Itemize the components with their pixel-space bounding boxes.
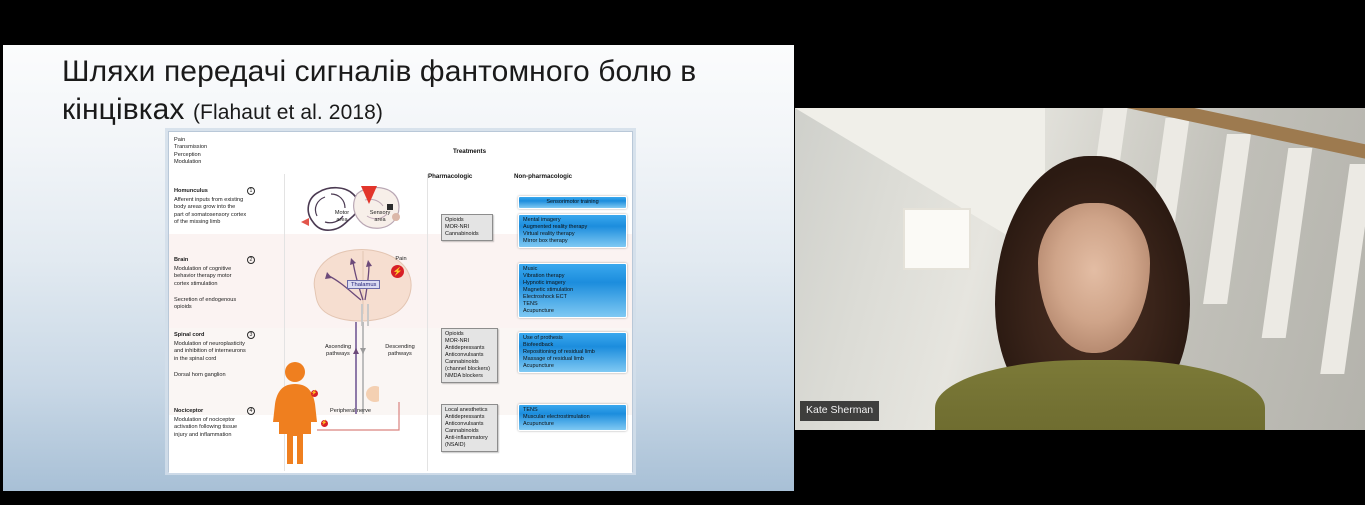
row-heading-brain: Brain	[174, 257, 188, 264]
pharmacologic-box-spinal-cord: Opioids MOR-NRI Antidepressants Anticonv…	[441, 328, 498, 383]
marker-3: 3	[247, 331, 255, 339]
row-body-nociceptor: Modulation of nociceptor activation foll…	[174, 417, 237, 439]
presentation-slide: Шляхи передачі сигналів фантомного болю …	[3, 45, 794, 491]
pain-modulation-header: Pain Transmission Perception Modulation	[174, 137, 207, 167]
row-heading-spinal-cord: Spinal cord	[174, 332, 204, 339]
participant-torso	[935, 360, 1265, 430]
nonpharmacologic-column-header: Non-pharmacologic	[514, 173, 572, 180]
nonpharmacologic-box-sensorimotor: Sensorimotor training	[518, 196, 627, 209]
row-body-homunculus: Afferent inputs from existing body areas…	[174, 197, 246, 227]
participant-name-label: Kate Sherman	[800, 401, 879, 421]
row-body-brain-extra: Secretion of endogenous opioids	[174, 297, 236, 312]
nonpharmacologic-box-nociceptor: TENS Muscular electrostimulation Acupunc…	[518, 404, 627, 431]
stair-baluster-4	[1262, 148, 1313, 338]
label-pain: Pain	[391, 256, 411, 263]
pharmacologic-box-homunculus: Opioids MOR-NRI Cannabinoids	[441, 214, 493, 241]
peripheral-nerve-path	[315, 400, 425, 438]
marker-1: 1	[247, 187, 255, 195]
label-sensory-area: Sensory area	[365, 210, 395, 224]
label-thalamus: Thalamus	[347, 280, 380, 289]
pain-pathway-diagram: Pain Transmission Perception Modulation …	[168, 131, 633, 472]
video-participant-tile[interactable]: Kate Sherman	[795, 108, 1365, 430]
pharmacologic-box-nociceptor: Local anesthetics Antidepressants Antico…	[441, 404, 498, 452]
label-motor-area: Motor area	[329, 210, 355, 224]
nociceptor-bolt-icon: ⚡	[311, 390, 318, 397]
page-title: Шляхи передачі сигналів фантомного болю …	[62, 53, 762, 132]
row-body-spinal-cord: Modulation of neuroplasticity and inhibi…	[174, 341, 246, 363]
nonpharmacologic-box-brain: Music Vibration therapy Hypnotic imagery…	[518, 263, 627, 318]
row-heading-homunculus: Homunculus	[174, 188, 208, 195]
pain-bolt-icon: ⚡	[391, 265, 404, 278]
stair-baluster-3	[1203, 134, 1251, 304]
marker-4: 4	[247, 407, 255, 415]
row-heading-nociceptor: Nociceptor	[174, 408, 203, 415]
screen-root: Шляхи передачі сигналів фантомного болю …	[0, 0, 1365, 505]
slide-title-citation: (Flahaut et al. 2018)	[193, 101, 383, 124]
marker-2: 2	[247, 256, 255, 264]
peripheral-bolt-icon: ⚡	[321, 420, 328, 427]
wall-picture-frame	[903, 208, 971, 270]
nonpharmacologic-box-spinal-cord: Use of prothesis Biofeedback Repositioni…	[518, 332, 627, 373]
label-peripheral-nerve: Peripheral nerve	[330, 408, 392, 415]
pharmacologic-column-header: Pharmacologic	[428, 173, 472, 180]
patient-figure-icon	[269, 360, 321, 470]
row-body-brain: Modulation of cognitive behavior therapy…	[174, 266, 232, 288]
row-body-spinal-extra: Dorsal horn ganglion	[174, 372, 226, 379]
label-descending-pathways: Descending pathways	[377, 344, 423, 358]
nonpharmacologic-box-homunculus: Mental imagery Augmented reality therapy…	[518, 214, 627, 248]
treatments-header: Treatments	[453, 148, 486, 155]
stair-baluster-5	[1320, 164, 1365, 374]
